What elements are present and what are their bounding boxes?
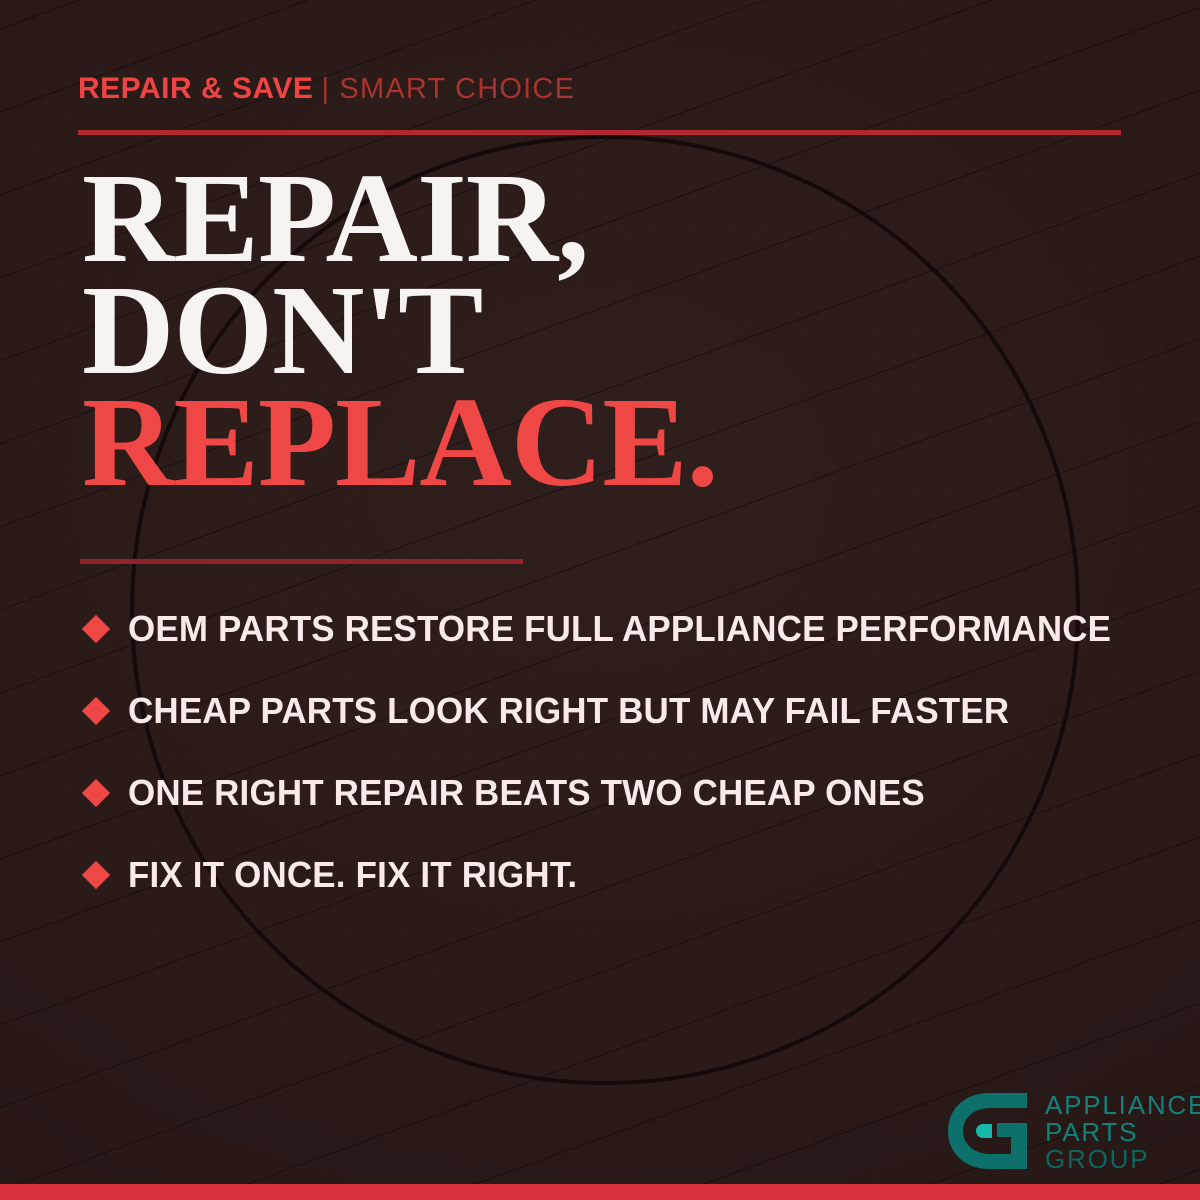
list-item-label: OEM PARTS RESTORE FULL APPLIANCE PERFORM… xyxy=(128,608,1111,650)
poster-canvas: REPAIR & SAVE| SMART CHOICE REPAIR, DON'… xyxy=(0,0,1200,1200)
brand-logo: APPLIANCE PARTS GROUP xyxy=(945,1090,1200,1173)
diamond-icon xyxy=(82,861,110,889)
headline-line-2: DON'T xyxy=(82,274,718,386)
list-item: FIX IT ONCE. FIX IT RIGHT. xyxy=(80,834,1150,916)
eyebrow-light-text: | SMART CHOICE xyxy=(321,73,575,105)
list-item: CHEAP PARTS LOOK RIGHT BUT MAY FAIL FAST… xyxy=(80,670,1150,752)
headline-line-3: REPLACE. xyxy=(82,386,718,498)
brand-word-parts: PARTS xyxy=(1045,1119,1200,1146)
brand-wordmark: APPLIANCE PARTS GROUP xyxy=(1045,1090,1200,1173)
bottom-accent-bar xyxy=(0,1184,1200,1200)
page-title: REPAIR, DON'T REPLACE. xyxy=(82,162,718,498)
eyebrow: REPAIR & SAVE| SMART CHOICE xyxy=(78,72,575,106)
benefits-list: OEM PARTS RESTORE FULL APPLIANCE PERFORM… xyxy=(80,588,1150,916)
list-item-label: FIX IT ONCE. FIX IT RIGHT. xyxy=(128,854,577,896)
brand-word-group: GROUP xyxy=(1045,1146,1200,1173)
headline-divider xyxy=(80,559,523,564)
diamond-icon xyxy=(82,697,110,725)
diamond-icon xyxy=(82,615,110,643)
list-item: OEM PARTS RESTORE FULL APPLIANCE PERFORM… xyxy=(80,588,1150,670)
diamond-icon xyxy=(82,779,110,807)
header-divider xyxy=(78,130,1121,135)
list-item-label: ONE RIGHT REPAIR BEATS TWO CHEAP ONES xyxy=(128,772,925,814)
poster-content: REPAIR & SAVE| SMART CHOICE REPAIR, DON'… xyxy=(0,0,1200,1200)
headline-line-1: REPAIR, xyxy=(82,162,718,274)
list-item: ONE RIGHT REPAIR BEATS TWO CHEAP ONES xyxy=(80,752,1150,834)
list-item-label: CHEAP PARTS LOOK RIGHT BUT MAY FAIL FAST… xyxy=(128,690,1009,732)
g-monogram-icon xyxy=(945,1090,1033,1172)
eyebrow-strong-text: REPAIR & SAVE xyxy=(78,72,313,105)
brand-word-appliance: APPLIANCE xyxy=(1045,1092,1200,1119)
